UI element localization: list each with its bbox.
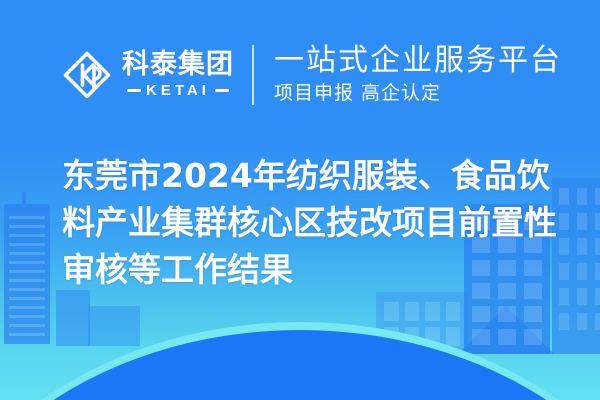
building-left-tower <box>4 204 50 344</box>
brand-tagline: 一站式企业服务平台 项目申报 高企认定 <box>274 44 562 105</box>
building-left-low <box>88 306 140 346</box>
header-divider <box>252 45 254 105</box>
dash-right-icon <box>215 89 229 92</box>
brand-name-en: KETAI <box>146 82 210 99</box>
brand-logo[interactable]: 科泰集团 KETAI <box>62 50 234 100</box>
banner-header: 科泰集团 KETAI 一站式企业服务平台 项目申报 高企认定 <box>0 38 600 112</box>
page-title: 东莞市2024年纺织服装、食品饮料产业集群核心区技改项目前置性审核等工作结果 <box>62 152 572 293</box>
promo-banner: 科泰集团 KETAI 一站式企业服务平台 项目申报 高企认定 东莞市2024年纺… <box>0 0 600 400</box>
tagline-primary: 一站式企业服务平台 <box>274 44 562 78</box>
ketai-diamond-kp-logo-icon <box>62 50 112 100</box>
building-left-mid <box>56 290 90 346</box>
dash-left-icon <box>127 89 141 92</box>
building-antenna <box>22 192 26 204</box>
building-window-stripes <box>9 216 45 338</box>
brand-logo-text: 科泰集团 KETAI <box>122 51 234 99</box>
brand-name-cn: 科泰集团 <box>122 51 234 79</box>
brand-name-en-row: KETAI <box>127 82 229 99</box>
tagline-secondary: 项目申报 高企认定 <box>274 82 562 106</box>
